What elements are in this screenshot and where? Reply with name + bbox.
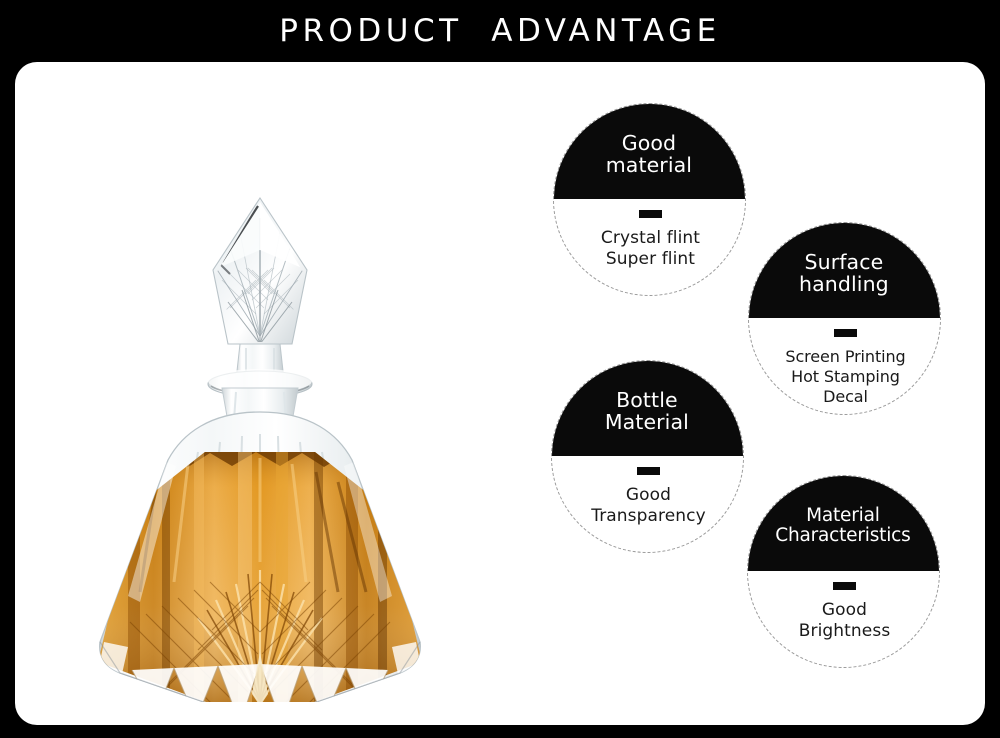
- feature-header: Material Characteristics: [747, 475, 939, 571]
- dash-divider-icon: [637, 467, 660, 475]
- feature-body-area: Crystal flint Super flint: [554, 201, 746, 297]
- dash-divider-icon: [833, 582, 856, 590]
- feature-circle-good-material[interactable]: Good material Crystal flint Super flint: [553, 103, 746, 296]
- content-panel: Good material Crystal flint Super flint …: [15, 62, 985, 725]
- feature-title: Bottle Material: [605, 389, 689, 433]
- feature-title: Material Characteristics: [775, 506, 910, 546]
- feature-title: Good material: [606, 132, 692, 176]
- feature-header: Surface handling: [748, 222, 940, 318]
- decanter-body: [70, 412, 450, 702]
- feature-body: Good Brightness: [799, 600, 891, 643]
- page-title: PRODUCT ADVANTAGE: [279, 13, 720, 49]
- title-bar: PRODUCT ADVANTAGE: [0, 0, 1000, 62]
- feature-body: Screen Printing Hot Stamping Decal: [785, 347, 905, 407]
- feature-body-area: Screen Printing Hot Stamping Decal: [749, 320, 941, 416]
- feature-body: Crystal flint Super flint: [601, 228, 700, 271]
- feature-body: Good Transparency: [591, 485, 706, 528]
- product-image-decanter: [70, 122, 450, 702]
- feature-circle-bottle-material[interactable]: Bottle Material Good Transparency: [551, 360, 744, 553]
- feature-body-area: Good Brightness: [748, 573, 940, 669]
- feature-title: Surface handling: [799, 251, 889, 295]
- feature-body-area: Good Transparency: [552, 458, 744, 554]
- decanter-stopper: [213, 198, 307, 380]
- dash-divider-icon: [639, 210, 662, 218]
- dash-divider-icon: [834, 329, 857, 337]
- feature-header: Good material: [553, 103, 745, 199]
- poster-root: PRODUCT ADVANTAGE: [0, 0, 1000, 738]
- feature-circle-surface-handling[interactable]: Surface handling Screen Printing Hot Sta…: [748, 222, 941, 415]
- feature-circle-material-characteristics[interactable]: Material Characteristics Good Brightness: [747, 475, 940, 668]
- feature-header: Bottle Material: [551, 360, 743, 456]
